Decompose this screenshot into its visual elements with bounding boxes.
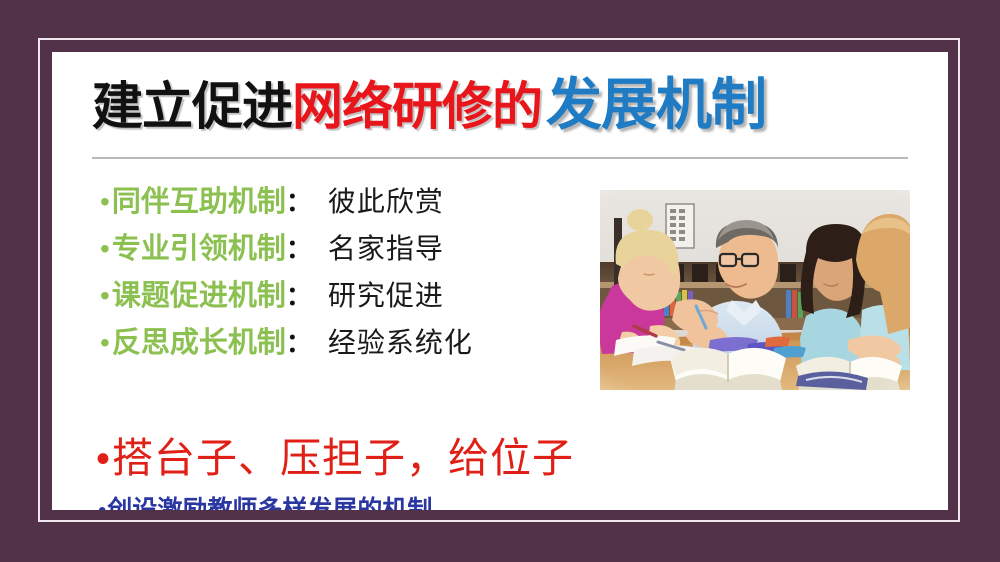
subnote-line: • 创设激励教师多样发展的机制 <box>98 490 432 510</box>
highlight-text: 搭台子、压担子，给位子 <box>112 424 574 484</box>
list-item-colon: ： <box>286 182 312 219</box>
page-title-segment-blue: 发展机制 <box>546 73 766 138</box>
list-item-colon: ： <box>286 276 312 313</box>
photo-image <box>600 190 910 390</box>
bullet-dot-icon: • <box>100 329 110 357</box>
list-item-label: 反思成长机制 <box>112 319 286 361</box>
list-item: • 课题促进机制 ： 研究促进 <box>100 272 620 319</box>
list-item-description: 彼此欣赏 <box>328 180 444 220</box>
bullet-dot-icon: • <box>100 282 110 310</box>
list-item: • 专业引领机制 ： 名家指导 <box>100 225 620 272</box>
list-item-description: 经验系统化 <box>328 321 473 361</box>
bullet-dot-icon: • <box>100 188 110 216</box>
page-title-segment-black: 建立促进 <box>92 78 292 137</box>
list-item-label: 专业引领机制 <box>112 225 286 267</box>
page-title: 建立促进网络研修的发展机制 <box>92 78 766 134</box>
list-item-description: 研究促进 <box>328 274 444 314</box>
bullet-dot-icon: • <box>100 235 110 263</box>
list-item-colon: ： <box>286 323 312 360</box>
list-item-label: 课题促进机制 <box>112 272 286 314</box>
list-item: • 反思成长机制 ： 经验系统化 <box>100 319 620 366</box>
slide-root: 建立促进网络研修的发展机制 • 同伴互助机制 ： 彼此欣赏 • 专业引领机制 ：… <box>0 0 1000 562</box>
page-title-segment-red: 网络研修的 <box>292 78 542 137</box>
bullet-dot-icon: • <box>98 499 106 510</box>
slide-content-panel: 建立促进网络研修的发展机制 • 同伴互助机制 ： 彼此欣赏 • 专业引领机制 ：… <box>52 52 948 510</box>
subnote-text: 创设激励教师多样发展的机制 <box>107 490 432 510</box>
list-item-label: 同伴互助机制 <box>112 178 286 220</box>
list-item-colon: ： <box>286 229 312 266</box>
list-item: • 同伴互助机制 ： 彼此欣赏 <box>100 178 620 225</box>
mechanism-list: • 同伴互助机制 ： 彼此欣赏 • 专业引领机制 ： 名家指导 • 课题促进机制… <box>100 178 620 366</box>
teachers-group-discussion-photo <box>600 190 910 390</box>
bullet-dot-icon: • <box>96 439 110 479</box>
title-divider <box>92 157 908 159</box>
list-item-description: 名家指导 <box>328 227 444 267</box>
highlight-line: • 搭台子、压担子，给位子 <box>96 424 574 484</box>
